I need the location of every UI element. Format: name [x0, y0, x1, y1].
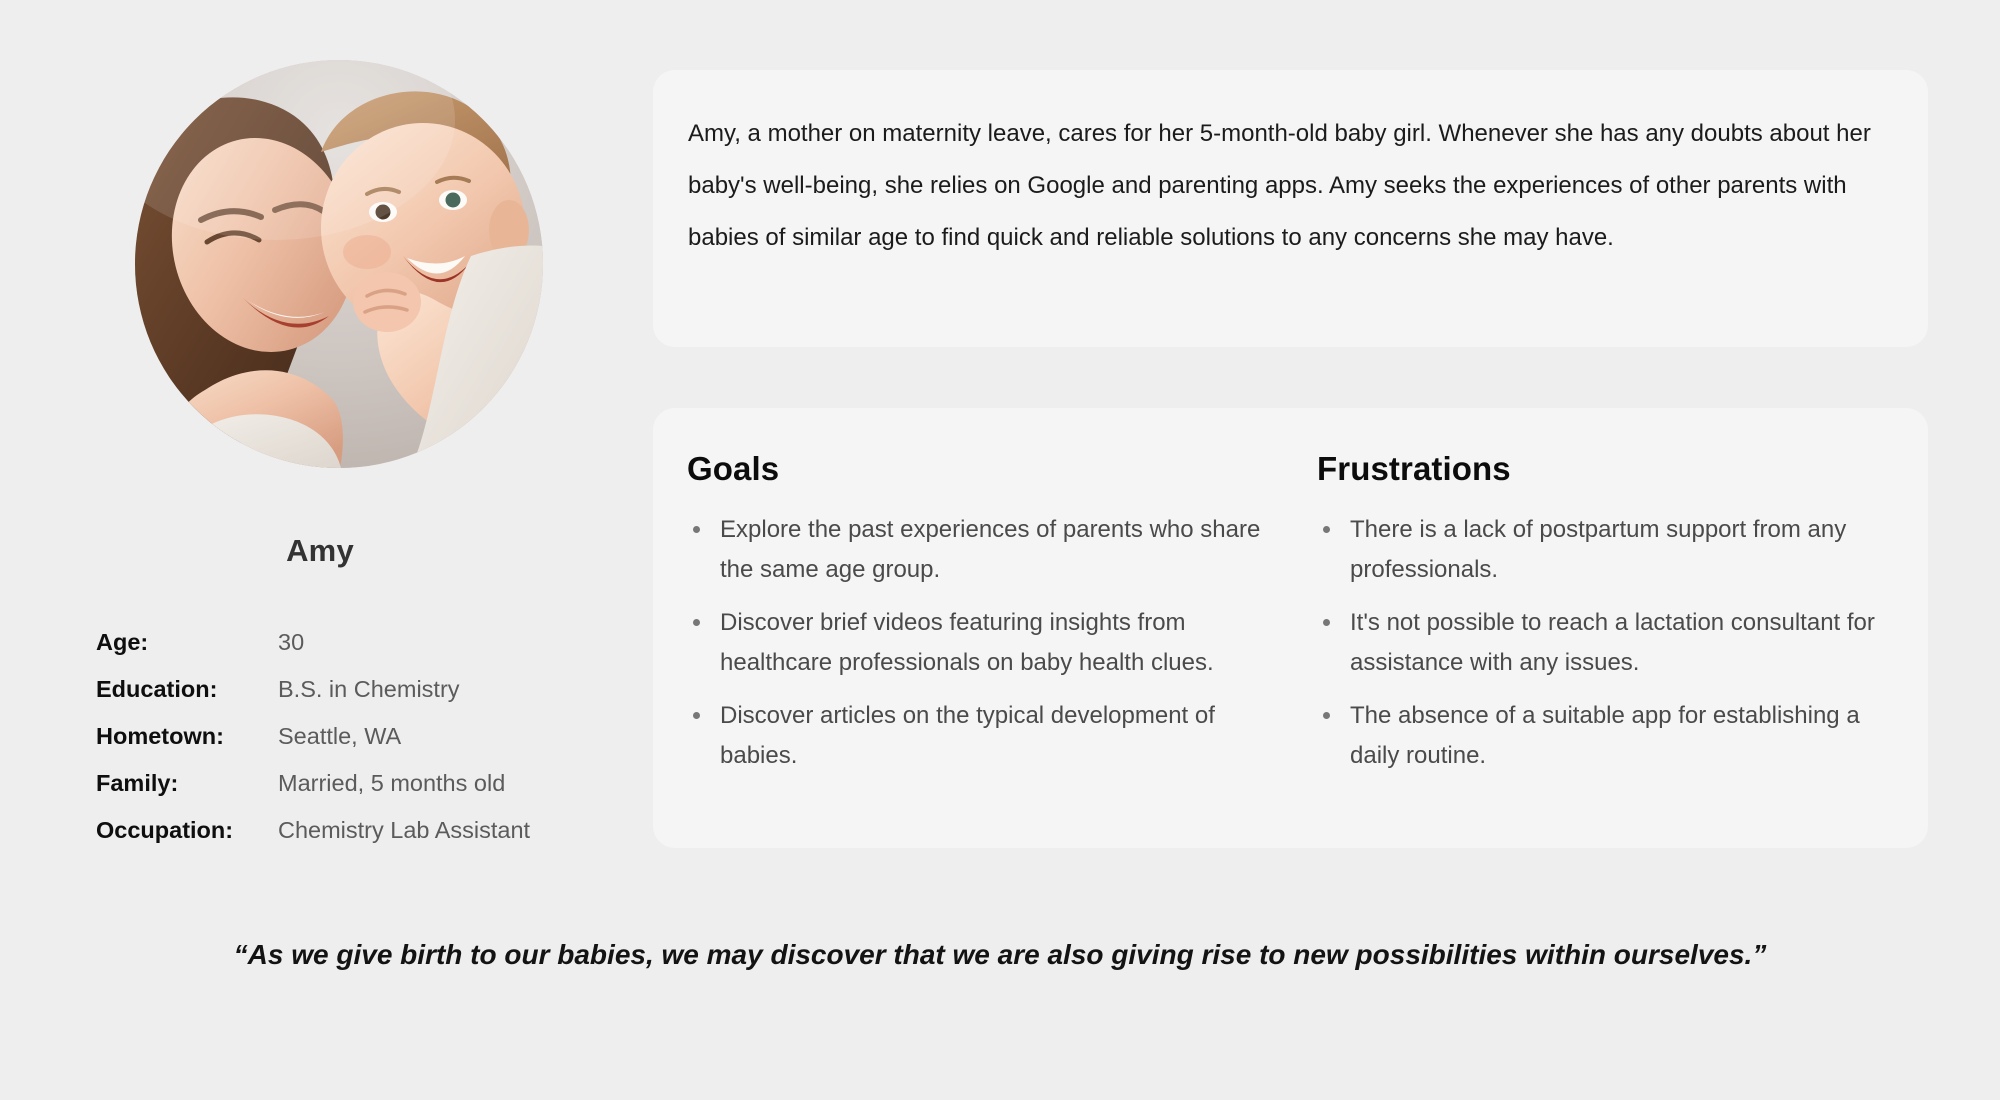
detail-label-hometown: Hometown: — [96, 713, 278, 760]
detail-label-occupation: Occupation: — [96, 807, 278, 854]
frustration-text: The absence of a suitable app for establ… — [1350, 702, 1860, 769]
table-row: Hometown: Seattle, WA — [96, 713, 616, 760]
bullet-icon — [1323, 619, 1330, 626]
list-item: Discover brief videos featuring insights… — [687, 603, 1287, 682]
list-item: Discover articles on the typical develop… — [687, 696, 1287, 775]
page-title: Amy — [0, 533, 640, 569]
detail-value-hometown: Seattle, WA — [278, 713, 616, 760]
goals-column: Goals Explore the past experiences of pa… — [687, 450, 1287, 789]
persona-quote: “As we give birth to our babies, we may … — [190, 930, 1810, 979]
detail-value-age: 30 — [278, 619, 616, 666]
table-row: Education: B.S. in Chemistry — [96, 666, 616, 713]
persona-details-table: Age: 30 Education: B.S. in Chemistry Hom… — [96, 619, 616, 854]
goals-heading: Goals — [687, 450, 1287, 488]
goals-list: Explore the past experiences of parents … — [687, 510, 1287, 775]
table-row: Age: 30 — [96, 619, 616, 666]
detail-label-family: Family: — [96, 760, 278, 807]
detail-value-education: B.S. in Chemistry — [278, 666, 616, 713]
bullet-icon — [693, 619, 700, 626]
persona-card-page: Amy Age: 30 Education: B.S. in Chemistry… — [0, 0, 2000, 1100]
frustrations-column: Frustrations There is a lack of postpart… — [1317, 450, 1907, 789]
detail-value-occupation: Chemistry Lab Assistant — [278, 807, 616, 854]
bullet-icon — [693, 712, 700, 719]
bio-text: Amy, a mother on maternity leave, cares … — [688, 108, 1893, 264]
detail-label-education: Education: — [96, 666, 278, 713]
frustration-text: There is a lack of postpartum support fr… — [1350, 516, 1846, 583]
goal-text: Discover articles on the typical develop… — [720, 702, 1215, 769]
list-item: It's not possible to reach a lactation c… — [1317, 603, 1907, 682]
bullet-icon — [693, 526, 700, 533]
bullet-icon — [1323, 712, 1330, 719]
detail-value-family: Married, 5 months old — [278, 760, 616, 807]
list-item: The absence of a suitable app for establ… — [1317, 696, 1907, 775]
frustrations-heading: Frustrations — [1317, 450, 1907, 488]
table-row: Family: Married, 5 months old — [96, 760, 616, 807]
bio-card: Amy, a mother on maternity leave, cares … — [653, 70, 1928, 347]
frustrations-list: There is a lack of postpartum support fr… — [1317, 510, 1907, 775]
goal-text: Discover brief videos featuring insights… — [720, 609, 1214, 676]
frustration-text: It's not possible to reach a lactation c… — [1350, 609, 1875, 676]
goal-text: Explore the past experiences of parents … — [720, 516, 1260, 583]
mother-and-baby-photo — [135, 60, 543, 468]
persona-identity-column: Amy Age: 30 Education: B.S. in Chemistry… — [0, 0, 640, 880]
list-item: There is a lack of postpartum support fr… — [1317, 510, 1907, 589]
goals-frustrations-card: Goals Explore the past experiences of pa… — [653, 408, 1928, 848]
avatar — [135, 60, 543, 468]
table-row: Occupation: Chemistry Lab Assistant — [96, 807, 616, 854]
detail-label-age: Age: — [96, 619, 278, 666]
bullet-icon — [1323, 526, 1330, 533]
list-item: Explore the past experiences of parents … — [687, 510, 1287, 589]
